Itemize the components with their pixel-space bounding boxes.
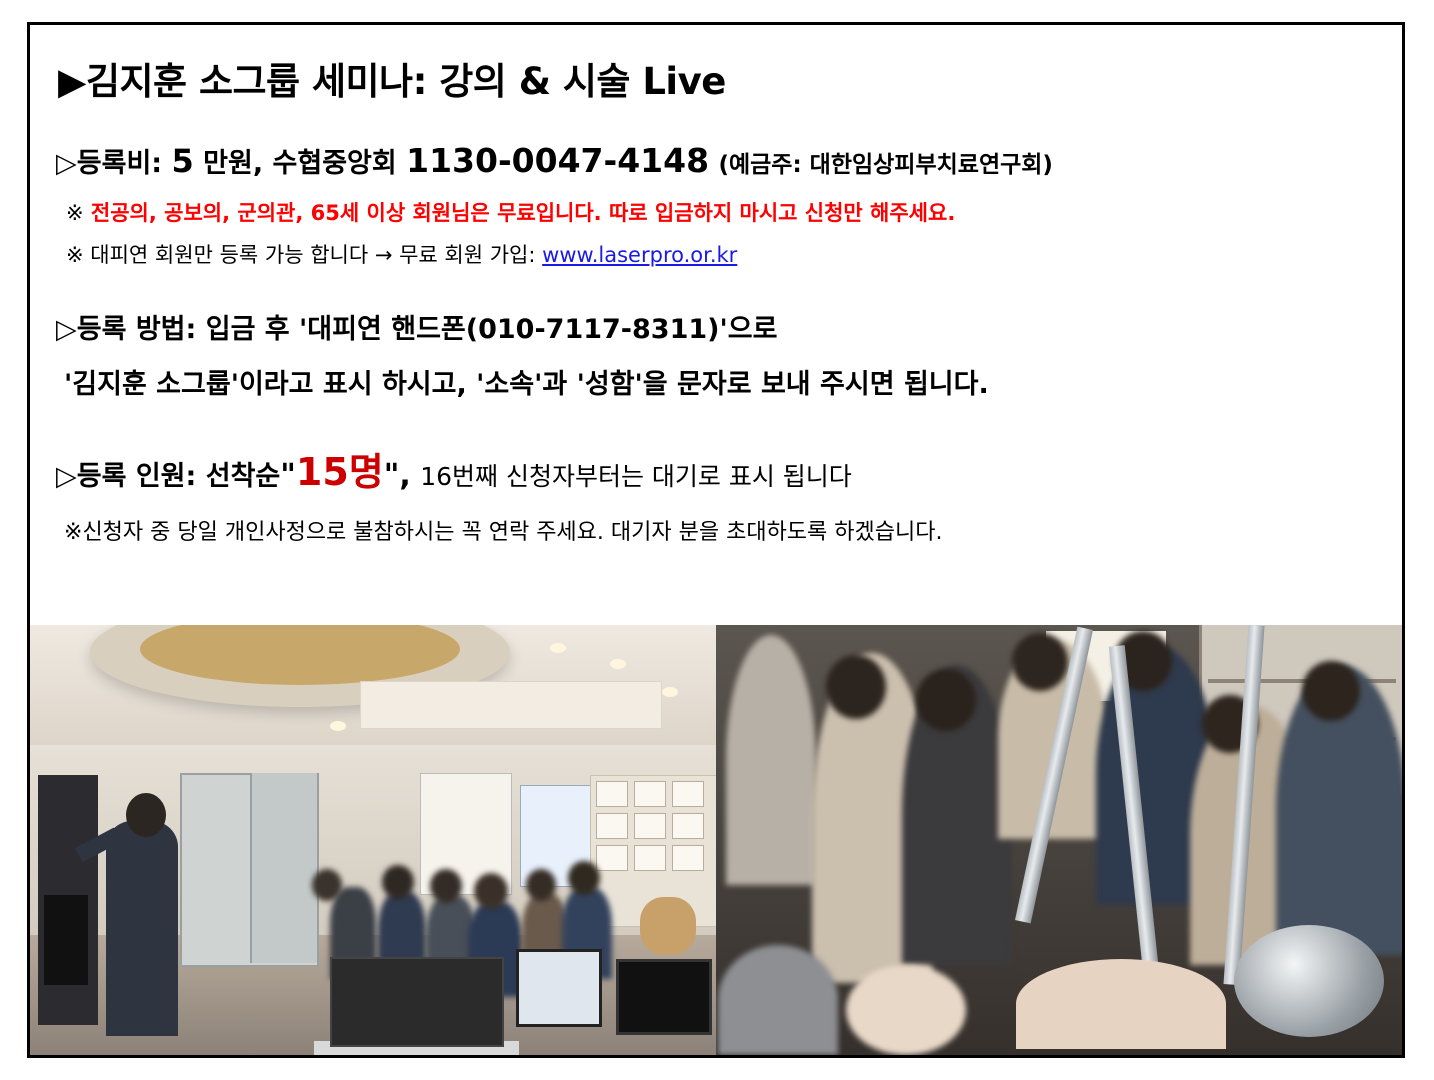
capacity-bullet: ▷ (56, 461, 77, 492)
cancellation-note-text: 신청자 중 당일 개인사정으로 불참하시는 꼭 연락 주세요. 대기자 분을 초… (82, 520, 942, 545)
certificate-frame-3 (672, 781, 704, 807)
capacity-tail-text: 16번째 신청자부터는 대기로 표시 됩니다 (420, 462, 852, 491)
teddy-bear (640, 897, 696, 955)
note-mark-icon-2: ※ (66, 243, 84, 267)
ceiling-spot-3 (662, 687, 678, 697)
cancellation-note: ※신청자 중 당일 개인사정으로 불참하시는 꼭 연락 주세요. 대기자 분을 … (64, 514, 1378, 546)
ceiling-spot-1 (550, 643, 566, 653)
fee-label: 등록비: (77, 148, 162, 179)
note-mark-icon: ※ (66, 201, 84, 225)
attendee-3-head (430, 869, 462, 903)
certificate-frame-4 (596, 813, 628, 839)
patient-face (1016, 959, 1226, 1049)
certificate-frame-8 (634, 845, 666, 871)
speaker-body (106, 821, 178, 1036)
registration-fee-line: ▷등록비: 5 만원, 수협중앙회 1130-0047-4148 (예금주: 대… (56, 141, 1378, 180)
procedure-lamp (1234, 925, 1384, 1037)
ceiling-panel (360, 681, 662, 729)
capacity-quote-close: ", (384, 458, 411, 493)
wall-poster-dark (44, 895, 88, 985)
attendee-1-head (312, 869, 342, 901)
presentation-monitor (516, 949, 602, 1027)
photo-strip (30, 625, 1402, 1055)
certificate-frame-6 (672, 813, 704, 839)
method-bullet: ▷ (56, 314, 77, 345)
participant-3-head (916, 669, 976, 731)
participant-7-head (1302, 661, 1360, 721)
ceiling-spot-2 (610, 659, 626, 669)
fee-account-number: 1130-0047-4148 (406, 141, 709, 180)
capacity-label: 등록 인원: (77, 461, 197, 492)
fee-amount: 5 (172, 142, 194, 180)
capacity-quote-open: " (280, 458, 296, 493)
secondary-monitor (616, 959, 712, 1035)
speaker-head (126, 793, 166, 837)
laptop-screen (330, 957, 504, 1047)
attendee-5-head (526, 869, 556, 901)
attendee-4-head (474, 873, 508, 909)
method-text-1: 등록 방법: 입금 후 '대피연 핸드폰(010-7117-8311)'으로 (77, 314, 778, 345)
page-title: ▶김지훈 소그룹 세미나: 강의 & 시술 Live (58, 51, 1378, 105)
capacity-line: ▷등록 인원: 선착순"15명", 16번째 신청자부터는 대기로 표시 됩니다 (56, 441, 1378, 496)
participant-8 (718, 945, 838, 1055)
procedure-live-photo (716, 625, 1402, 1055)
participant-1 (726, 635, 816, 885)
fee-account-holder: (예금주: 대한임상피부치료연구회) (718, 152, 1052, 178)
free-member-note: ※ 전공의, 공보의, 군의관, 65세 이상 회원님은 무료입니다. 따로 입… (66, 197, 1378, 227)
certificate-frame-9 (672, 845, 704, 871)
free-member-note-text: 전공의, 공보의, 군의관, 65세 이상 회원님은 무료입니다. 따로 입금하… (91, 201, 955, 225)
certificate-frame-5 (634, 813, 666, 839)
membership-note-text: 대피연 회원만 등록 가능 합니다 → 무료 회원 가입: (90, 243, 535, 267)
capacity-count: 15명 (296, 450, 384, 494)
participant-4-head (1012, 633, 1068, 691)
attendee-6-head (568, 861, 600, 895)
fee-bullet: ▷ (56, 148, 77, 179)
certificate-frame-1 (596, 781, 628, 807)
seminar-poster: ▶김지훈 소그룹 세미나: 강의 & 시술 Live ▷등록비: 5 만원, 수… (27, 22, 1405, 1058)
glass-door-right (250, 773, 317, 963)
ceiling-spot-4 (330, 721, 346, 731)
membership-note: ※ 대피연 회원만 등록 가능 합니다 → 무료 회원 가입: www.lase… (66, 239, 1378, 269)
certificate-frame-7 (596, 845, 628, 871)
participant-9 (846, 965, 966, 1055)
attendee-2-head (382, 865, 414, 899)
note-mark-icon-3: ※ (64, 520, 82, 545)
method-text-2: '김지훈 소그룹'이라고 표시 하시고, '소속'과 '성함'을 문자로 보내 … (64, 369, 989, 400)
capacity-order: 선착순 (206, 461, 281, 492)
registration-method-line1: ▷등록 방법: 입금 후 '대피연 핸드폰(010-7117-8311)'으로 (56, 307, 1378, 346)
poster-text-area: ▶김지훈 소그룹 세미나: 강의 & 시술 Live ▷등록비: 5 만원, 수… (30, 25, 1402, 633)
registration-method-line2: '김지훈 소그룹'이라고 표시 하시고, '소속'과 '성함'을 문자로 보내 … (64, 362, 1378, 401)
fee-unit: 만원, (203, 148, 263, 179)
participant-2-head (826, 655, 886, 719)
certificate-frame-2 (634, 781, 666, 807)
fee-bank: 수협중앙회 (273, 148, 397, 179)
seminar-lecture-photo (30, 625, 716, 1055)
membership-signup-link[interactable]: www.laserpro.or.kr (542, 243, 737, 267)
